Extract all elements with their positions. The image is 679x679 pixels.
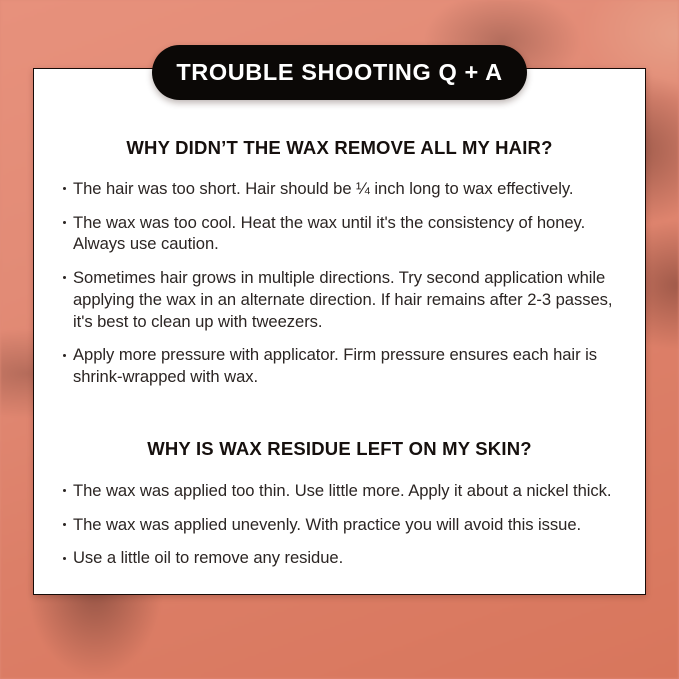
list-item-text: The wax was too cool. Heat the wax until…	[73, 213, 585, 254]
bullet-list-hair-removal: The hair was too short. Hair should be ¼…	[61, 178, 618, 388]
bullet-dot-icon	[63, 354, 66, 357]
content-card: WHY DIDN’T THE WAX REMOVE ALL MY HAIR? T…	[33, 68, 646, 595]
bullet-dot-icon	[63, 523, 66, 526]
page-title: TROUBLE SHOOTING Q + A	[176, 61, 502, 85]
list-item-text: Apply more pressure with applicator. Fir…	[73, 345, 597, 386]
list-item: Apply more pressure with applicator. Fir…	[61, 344, 618, 387]
list-item: Sometimes hair grows in multiple directi…	[61, 267, 618, 332]
list-item-text: The wax was applied unevenly. With pract…	[73, 515, 581, 534]
list-item-text: The hair was too short. Hair should be ¼…	[73, 179, 573, 198]
bullet-dot-icon	[63, 557, 66, 560]
bullet-dot-icon	[63, 489, 66, 492]
list-item: The wax was applied unevenly. With pract…	[61, 514, 618, 536]
bullet-dot-icon	[63, 276, 66, 279]
bullet-dot-icon	[63, 221, 66, 224]
page-title-pill: TROUBLE SHOOTING Q + A	[152, 45, 527, 100]
bullet-dot-icon	[63, 187, 66, 190]
list-item: The wax was too cool. Heat the wax until…	[61, 212, 618, 255]
section-heading-hair-removal: WHY DIDN’T THE WAX REMOVE ALL MY HAIR?	[61, 137, 618, 159]
card-inner-content: WHY DIDN’T THE WAX REMOVE ALL MY HAIR? T…	[34, 69, 645, 594]
list-item: Use a little oil to remove any residue.	[61, 547, 618, 569]
list-item-text: Use a little oil to remove any residue.	[73, 548, 343, 567]
list-item-text: The wax was applied too thin. Use little…	[73, 481, 612, 500]
list-item-text: Sometimes hair grows in multiple directi…	[73, 268, 612, 330]
list-item: The wax was applied too thin. Use little…	[61, 480, 618, 502]
list-item: The hair was too short. Hair should be ¼…	[61, 178, 618, 200]
section-heading-wax-residue: WHY IS WAX RESIDUE LEFT ON MY SKIN?	[61, 438, 618, 460]
bullet-list-wax-residue: The wax was applied too thin. Use little…	[61, 480, 618, 569]
